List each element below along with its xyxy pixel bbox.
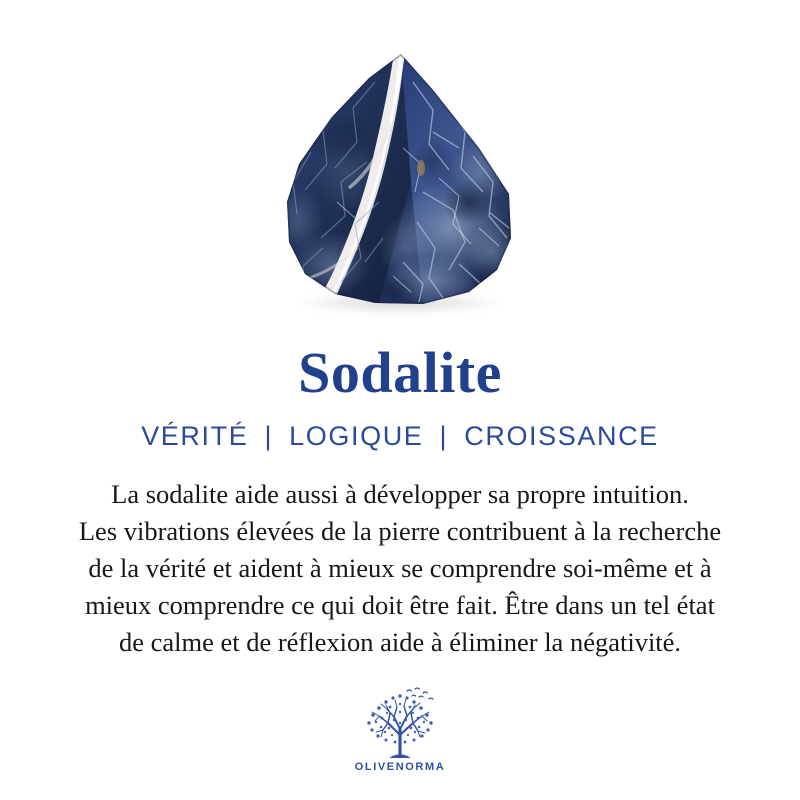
description-line: La sodalite aide aussi à développer sa p… (20, 476, 780, 513)
description-paragraph: La sodalite aide aussi à développer sa p… (20, 476, 780, 661)
keyword-separator: | (257, 421, 280, 451)
description-line: mieux comprendre ce qui doit être fait. … (20, 587, 780, 624)
product-image-area (0, 0, 800, 330)
brand-logo: OLIVENORMA (340, 685, 460, 773)
description-line: Les vibrations élevées de la pierre cont… (20, 513, 780, 550)
sodalite-crystal-icon (283, 52, 515, 307)
birds-icon (407, 688, 433, 699)
page-title: Sodalite (298, 344, 502, 402)
tree-of-life-icon (357, 685, 443, 759)
keyword-separator: | (433, 421, 456, 451)
description-line: de calme et de réflexion aide à éliminer… (20, 624, 780, 661)
product-info-card: Sodalite VÉRITÉ | LOGIQUE | CROISSANCE L… (0, 0, 800, 800)
description-line: de la vérité et aident à mieux se compre… (20, 550, 780, 587)
keyword-logique: LOGIQUE (289, 421, 423, 451)
keyword-verite: VÉRITÉ (141, 421, 248, 451)
sodalite-crystal-image (283, 52, 515, 307)
keyword-list: VÉRITÉ | LOGIQUE | CROISSANCE (141, 423, 659, 450)
keyword-croissance: CROISSANCE (464, 421, 659, 451)
brand-wordmark: OLIVENORMA (355, 761, 446, 773)
